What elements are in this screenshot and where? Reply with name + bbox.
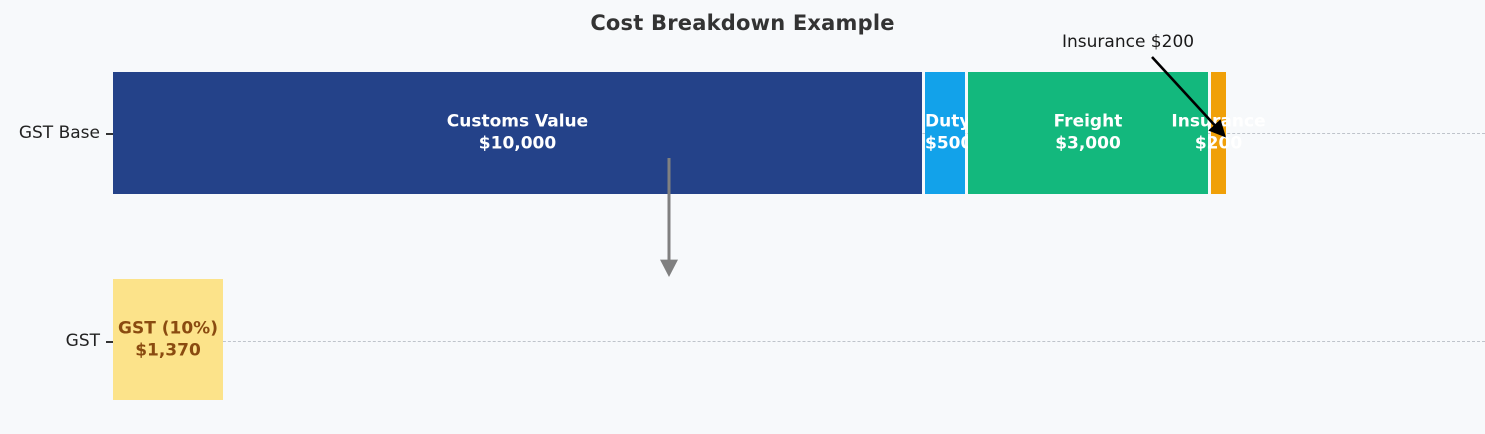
bar-label-gst-amount: $1,370 bbox=[113, 340, 223, 362]
bar-segment-customs-value[interactable]: Customs Value $10,000 bbox=[113, 72, 922, 194]
gridline-gst bbox=[113, 341, 1485, 342]
cost-breakdown-chart: Cost Breakdown Example GST Base GST Cust… bbox=[0, 0, 1485, 434]
y-axis-label-gst-base: GST Base bbox=[0, 123, 100, 143]
bar-segment-duty[interactable]: Duty $500 bbox=[925, 72, 965, 194]
y-axis-tick-gst-base bbox=[106, 133, 113, 135]
bar-segment-gst[interactable]: GST (10%) $1,370 bbox=[113, 279, 223, 400]
chart-title: Cost Breakdown Example bbox=[0, 11, 1485, 35]
bar-label-customs-value: Customs Value $10,000 bbox=[113, 111, 922, 156]
bar-label-customs-value-name: Customs Value bbox=[113, 111, 922, 133]
annotation-insurance-callout: Insurance $200 bbox=[1062, 32, 1194, 52]
bar-label-gst: GST (10%) $1,370 bbox=[113, 317, 223, 362]
bar-label-gst-name: GST (10%) bbox=[113, 317, 223, 339]
y-axis-label-gst: GST bbox=[0, 331, 100, 351]
bar-label-insurance-wrapper: Insurance $200 bbox=[1146, 72, 1291, 194]
bar-label-insurance-amount: $200 bbox=[1146, 133, 1291, 155]
bar-label-insurance-name: Insurance bbox=[1146, 111, 1291, 133]
bar-label-duty-name: Duty bbox=[925, 111, 965, 133]
bar-label-duty-amount: $500 bbox=[925, 133, 965, 155]
bar-label-insurance: Insurance $200 bbox=[1146, 111, 1291, 156]
bar-label-duty: Duty $500 bbox=[925, 111, 965, 156]
bar-label-customs-value-amount: $10,000 bbox=[113, 133, 922, 155]
y-axis-tick-gst bbox=[106, 341, 113, 343]
